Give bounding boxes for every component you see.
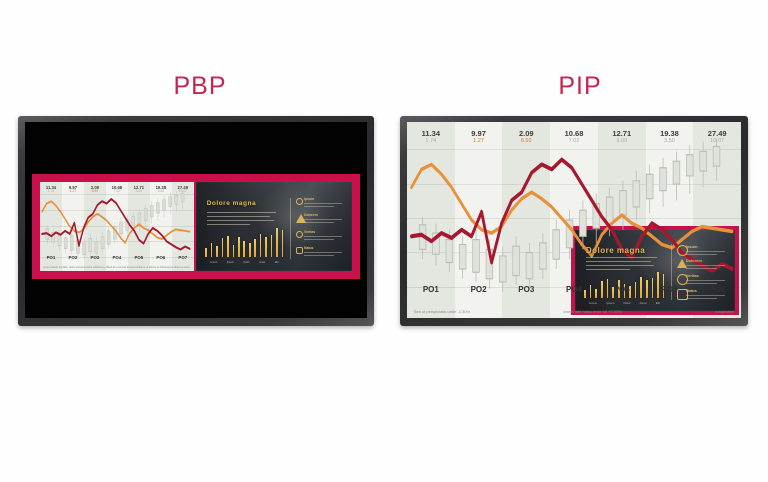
list-item-desc (304, 203, 347, 207)
quote-cell: 2.09 6.92 (502, 130, 550, 145)
category-label: PO1 (40, 255, 62, 260)
list-item-title: Veritas (304, 230, 347, 234)
pbp-panel-chart: 11.34 1.74 9.97 1.27 2.09 6.92 (40, 182, 196, 271)
list-item-title: Veritas (686, 273, 730, 278)
quote-cell: 9.97 1.27 (62, 186, 84, 195)
quote-change: 3.09 (598, 138, 646, 144)
quote-change: 3.09 (128, 190, 150, 194)
quote-value: 2.09 (502, 130, 550, 139)
list-item: Ipsum (677, 244, 730, 259)
category-label: PO2 (62, 255, 84, 260)
list-item-desc (304, 236, 347, 240)
list-item: Dolorem (296, 213, 348, 229)
chart-quote-row: 11.34 1.74 9.97 1.27 2.09 6.92 (40, 186, 194, 195)
list-item-title: Ipsum (304, 197, 347, 201)
infographic-title: Dolore magna (207, 200, 256, 207)
category-label: PO5 (598, 285, 646, 294)
quote-change: 7.02 (106, 190, 128, 194)
quote-cell: 27.49 10.07 (172, 186, 194, 195)
bar-label: Ipsum (227, 261, 234, 264)
triangle-icon (296, 214, 303, 221)
quote-cell: 27.49 10.07 (693, 130, 741, 145)
pip-monitor: 11.34 1.74 9.97 1.27 2.09 6.92 10.68 (400, 116, 748, 326)
quote-cell: 19.38 3.50 (646, 130, 694, 145)
quote-change: 1.27 (455, 138, 503, 144)
footnote: incididunt ut labore et dolore 6.04% (134, 266, 165, 269)
bar-label: Dolor (243, 261, 249, 264)
quote-cell: 10.68 7.02 (106, 186, 128, 195)
quote-cell: 9.97 1.27 (455, 130, 503, 145)
quote-value: 19.38 (646, 130, 694, 139)
dark-infographic-small: Dolore magna (196, 182, 352, 271)
list-item-desc (686, 265, 730, 269)
list-item-desc (304, 219, 347, 223)
category-label: PO7 (693, 285, 741, 294)
quote-change: 1.74 (407, 138, 455, 144)
quote-change: 3.50 (646, 138, 694, 144)
quote-cell: 11.34 1.74 (407, 130, 455, 145)
bar-label: Amet (640, 301, 647, 305)
chart-footnote-row: Lorem ipsum 14.09%, dolor amet +9.70% co… (43, 266, 191, 269)
infographic-title: Dolore magna (586, 246, 645, 255)
pbp-source-frame: 11.34 1.74 9.97 1.27 2.09 6.92 (32, 174, 360, 279)
list-item-title: Dolorem (304, 213, 347, 217)
quote-cell: 12.71 3.09 (598, 130, 646, 145)
bar-label: Dolor (623, 301, 630, 305)
list-item-title: Ipsum (686, 244, 730, 249)
infographic-content: Dolore magna Lorem (575, 230, 735, 311)
footnote: sed do eiusmod tempor 9.18% (108, 266, 134, 269)
chart-dashboard-large: 11.34 1.74 9.97 1.27 2.09 6.92 10.68 (407, 122, 741, 318)
list-item-desc (686, 295, 730, 299)
list-item: Ipsum (296, 197, 348, 213)
quote-change: 10.07 (693, 138, 741, 144)
quote-change: 6.92 (502, 138, 550, 144)
category-label: PO6 (150, 255, 172, 260)
category-label: PO3 (502, 285, 550, 294)
circle-icon (677, 245, 688, 256)
category-label: PO3 (84, 255, 106, 260)
arrow-icon (296, 231, 303, 238)
category-label: PO4 (550, 285, 598, 294)
page-root: PBP PIP (0, 0, 768, 482)
chart-dashboard-small: 11.34 1.74 9.97 1.27 2.09 6.92 (40, 182, 194, 271)
quote-value: 9.97 (455, 130, 503, 139)
quote-change: 10.07 (172, 190, 194, 194)
pbp-monitor: 11.34 1.74 9.97 1.27 2.09 6.92 (18, 116, 374, 326)
footnote: Sed ut perspiciatis unde -1.30% (414, 309, 470, 314)
quote-change: 1.27 (62, 190, 84, 194)
quote-cell: 19.38 3.50 (150, 186, 172, 195)
dark-infographic-inset: Dolore magna Lorem (575, 230, 735, 311)
quote-value: 11.34 (407, 130, 455, 139)
category-label: PO7 (172, 255, 194, 260)
quote-change: 1.74 (40, 190, 62, 194)
pbp-panel-infographic: Dolore magna (196, 182, 352, 271)
list-item-title: Natus (304, 246, 347, 250)
pip-panel-chart: 11.34 1.74 9.97 1.27 2.09 6.92 10.68 (407, 122, 741, 318)
pbp-split-container: 11.34 1.74 9.97 1.27 2.09 6.92 (40, 182, 352, 271)
chart-category-row: PO1 PO2 PO3 PO4 PO5 PO6 PO7 (40, 255, 194, 260)
infographic-bar-chart (205, 227, 283, 257)
list-item-desc (686, 280, 730, 284)
quote-change: 6.92 (84, 190, 106, 194)
bar-label: Ipsum (606, 301, 614, 305)
quote-cell: 11.34 1.74 (40, 186, 62, 195)
square-icon (296, 247, 303, 254)
pbp-mode-title: PBP (20, 72, 380, 101)
quote-cell: 12.71 3.09 (128, 186, 150, 195)
infographic-content: Dolore magna (196, 182, 352, 271)
list-item-title: Dolorem (686, 258, 730, 263)
category-label: PO6 (646, 285, 694, 294)
category-label: PO2 (455, 285, 503, 294)
pip-screen: 11.34 1.74 9.97 1.27 2.09 6.92 10.68 (407, 122, 741, 318)
bar-label: Lorem (210, 261, 217, 264)
footnote: Lorem ipsum 14.09%, dolor amet +9.70% (43, 266, 79, 269)
list-item: Dolorem (677, 258, 730, 273)
list-item-desc (304, 252, 347, 256)
footnote: consectetur adipiscing 45 -5.28% (79, 266, 108, 269)
pip-mode-title: PIP (400, 72, 760, 101)
quote-value: 27.49 (693, 130, 741, 139)
footnote: voluptatem (715, 309, 735, 314)
footnote: magna aliqua ut enim +7.09% (165, 266, 191, 269)
infographic-bar-labels: Lorem Ipsum Dolor Amet Elit (584, 301, 664, 305)
bar-label: Elit (656, 301, 660, 305)
category-label: PO4 (106, 255, 128, 260)
bar-label: Amet (259, 261, 265, 264)
infographic-divider (290, 198, 291, 259)
list-item: Veritas (296, 230, 348, 246)
list-item: Natus (296, 246, 348, 262)
category-label: PO1 (407, 285, 455, 294)
chart-quote-row: 11.34 1.74 9.97 1.27 2.09 6.92 10.68 (407, 130, 741, 145)
quote-cell: 2.09 6.92 (84, 186, 106, 195)
quote-change: 7.02 (550, 138, 598, 144)
quote-cell: 10.68 7.02 (550, 130, 598, 145)
bar-label: Elit (275, 261, 279, 264)
list-item-desc (686, 251, 730, 255)
quote-change: 3.50 (150, 190, 172, 194)
candlestick-group (46, 189, 184, 259)
category-label: PO5 (128, 255, 150, 260)
chart-category-row: PO1 PO2 PO3 PO4 PO5 PO6 PO7 (407, 285, 741, 294)
pbp-screen: 11.34 1.74 9.97 1.27 2.09 6.92 (25, 122, 367, 318)
infographic-bar-labels: Lorem Ipsum Dolor Amet Elit (205, 261, 283, 264)
circle-icon (296, 198, 303, 205)
infographic-list: Ipsum Dolorem (296, 197, 348, 262)
bar-label: Lorem (589, 301, 598, 305)
footnote: omnis iste natus error sit +7.03% (563, 309, 621, 314)
quote-value: 12.71 (598, 130, 646, 139)
chart-footnote-row: Sed ut perspiciatis unde -1.30% omnis is… (414, 309, 735, 314)
pip-inset-frame: Dolore magna Lorem (571, 226, 739, 315)
quote-value: 10.68 (550, 130, 598, 139)
